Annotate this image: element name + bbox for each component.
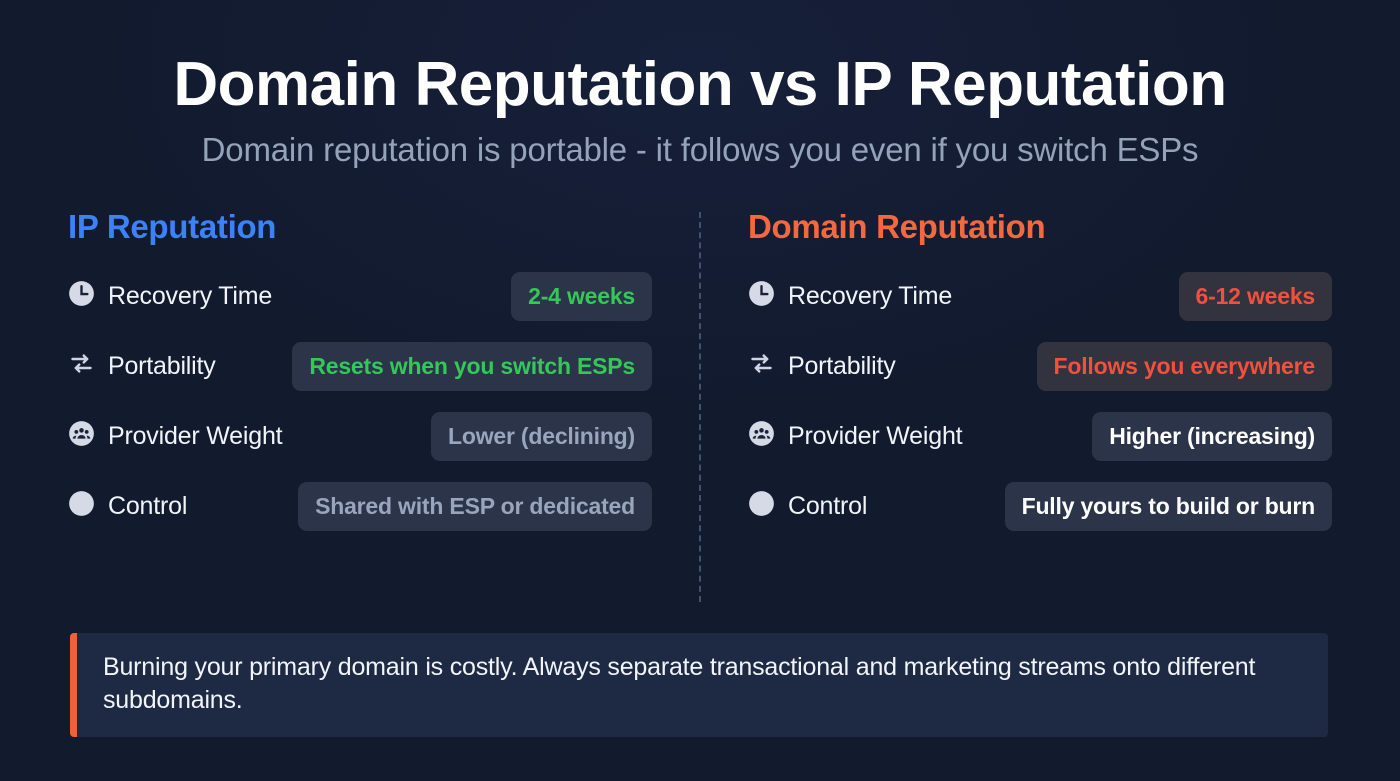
row-label: Recovery Time [788, 282, 952, 311]
page-title: Domain Reputation vs IP Reputation [0, 52, 1400, 117]
row-label-group: Recovery Time [748, 280, 952, 312]
column-ip-reputation: IP Reputation Recovery Time 2-4 weeks [0, 208, 700, 608]
row-recovery-time-ip: Recovery Time 2-4 weeks [68, 270, 652, 322]
row-control-ip: Control Shared with ESP or dedicated [68, 480, 652, 532]
value-badge: Fully yours to build or burn [1005, 482, 1332, 531]
header: Domain Reputation vs IP Reputation Domai… [0, 0, 1400, 169]
row-label-group: Portability [748, 350, 896, 382]
value-badge: 2-4 weeks [511, 272, 652, 321]
circle-icon [748, 490, 775, 522]
callout-text: Burning your primary domain is costly. A… [103, 651, 1302, 717]
row-control-domain: Control Fully yours to build or burn [748, 480, 1332, 532]
row-label: Recovery Time [108, 282, 272, 311]
row-recovery-time-domain: Recovery Time 6-12 weeks [748, 270, 1332, 322]
row-label: Provider Weight [108, 422, 282, 451]
callout-box: Burning your primary domain is costly. A… [70, 633, 1328, 737]
row-label: Provider Weight [788, 422, 962, 451]
swap-arrows-icon [68, 350, 95, 382]
column-heading-domain: Domain Reputation [748, 208, 1332, 246]
row-label-group: Control [748, 490, 867, 522]
clock-icon [748, 280, 775, 312]
page-subtitle: Domain reputation is portable - it follo… [0, 131, 1400, 169]
comparison-section: IP Reputation Recovery Time 2-4 weeks [0, 208, 1400, 608]
row-label: Control [108, 492, 187, 521]
people-icon [68, 420, 95, 452]
row-label-group: Control [68, 490, 187, 522]
row-label: Control [788, 492, 867, 521]
row-provider-weight-domain: Provider Weight Higher (increasing) [748, 410, 1332, 462]
row-list-ip: Recovery Time 2-4 weeks Portability Rese… [68, 270, 652, 532]
row-label: Portability [788, 352, 896, 381]
circle-icon [68, 490, 95, 522]
infographic-canvas: Domain Reputation vs IP Reputation Domai… [0, 0, 1400, 781]
swap-arrows-icon [748, 350, 775, 382]
row-label-group: Portability [68, 350, 216, 382]
row-portability-ip: Portability Resets when you switch ESPs [68, 340, 652, 392]
clock-icon [68, 280, 95, 312]
row-portability-domain: Portability Follows you everywhere [748, 340, 1332, 392]
column-heading-ip: IP Reputation [68, 208, 652, 246]
value-badge: Resets when you switch ESPs [292, 342, 652, 391]
row-label-group: Provider Weight [748, 420, 962, 452]
value-badge: Higher (increasing) [1092, 412, 1332, 461]
row-label-group: Recovery Time [68, 280, 272, 312]
value-badge: 6-12 weeks [1179, 272, 1332, 321]
value-badge: Shared with ESP or dedicated [298, 482, 652, 531]
value-badge: Follows you everywhere [1037, 342, 1332, 391]
row-list-domain: Recovery Time 6-12 weeks Portability Fol… [748, 270, 1332, 532]
row-provider-weight-ip: Provider Weight Lower (declining) [68, 410, 652, 462]
value-badge: Lower (declining) [431, 412, 652, 461]
row-label-group: Provider Weight [68, 420, 282, 452]
people-icon [748, 420, 775, 452]
column-domain-reputation: Domain Reputation Recovery Time 6-12 wee… [700, 208, 1400, 608]
row-label: Portability [108, 352, 216, 381]
